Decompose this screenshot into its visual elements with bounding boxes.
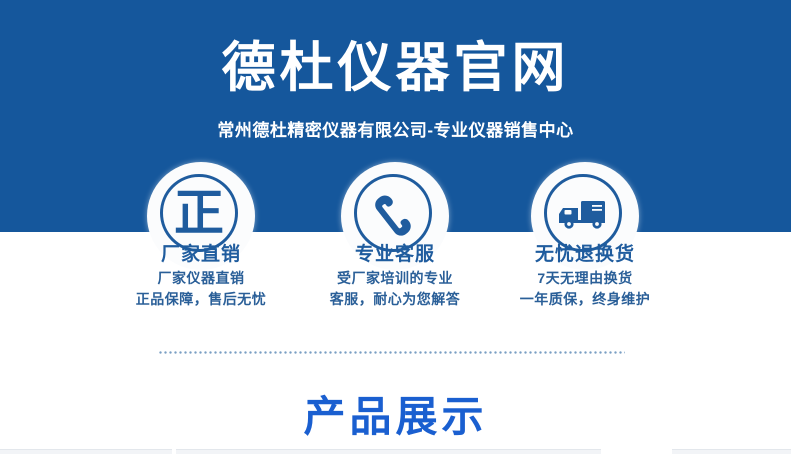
feature-heading: 无忧退换货 [490,243,680,267]
promo-banner-page: 德杜仪器官网 常州德杜精密仪器有限公司-专业仪器销售中心 正 厂家直销 厂家仪器… [0,0,791,454]
zheng-character-icon: 正 [160,174,238,252]
product-card-edge [176,449,601,454]
feature-detail-line: 厂家仪器直销 [106,269,296,287]
feature-heading: 厂家直销 [106,243,296,267]
feature-item-factory-direct: 正 厂家直销 厂家仪器直销 正品保障，售后无忧 [106,160,296,320]
feature-detail-line: 受厂家培训的专业 [300,269,490,287]
delivery-truck-icon [544,174,622,252]
feature-item-customer-service: 专业客服 受厂家培训的专业 客服，耐心为您解答 [300,160,490,320]
phone-handset-icon [354,174,432,252]
feature-detail-line: 一年质保，终身维护 [490,290,680,308]
section-title-products: 产品展示 [0,392,791,442]
feature-detail-line: 客服，耐心为您解答 [300,290,490,308]
company-subtitle: 常州德杜精密仪器有限公司-专业仪器销售中心 [0,119,791,143]
dotted-divider [158,351,625,354]
product-card-edge [672,449,791,454]
site-title: 德杜仪器官网 [0,36,791,100]
feature-detail-line: 正品保障，售后无忧 [106,290,296,308]
feature-heading: 专业客服 [300,243,490,267]
feature-list: 正 厂家直销 厂家仪器直销 正品保障，售后无忧 专业客服 受厂家培训的专业 客服… [0,160,791,320]
product-card-edge [0,449,172,454]
feature-detail-line: 7天无理由换货 [490,269,680,287]
feature-item-returns: 无忧退换货 7天无理由换货 一年质保，终身维护 [490,160,680,320]
